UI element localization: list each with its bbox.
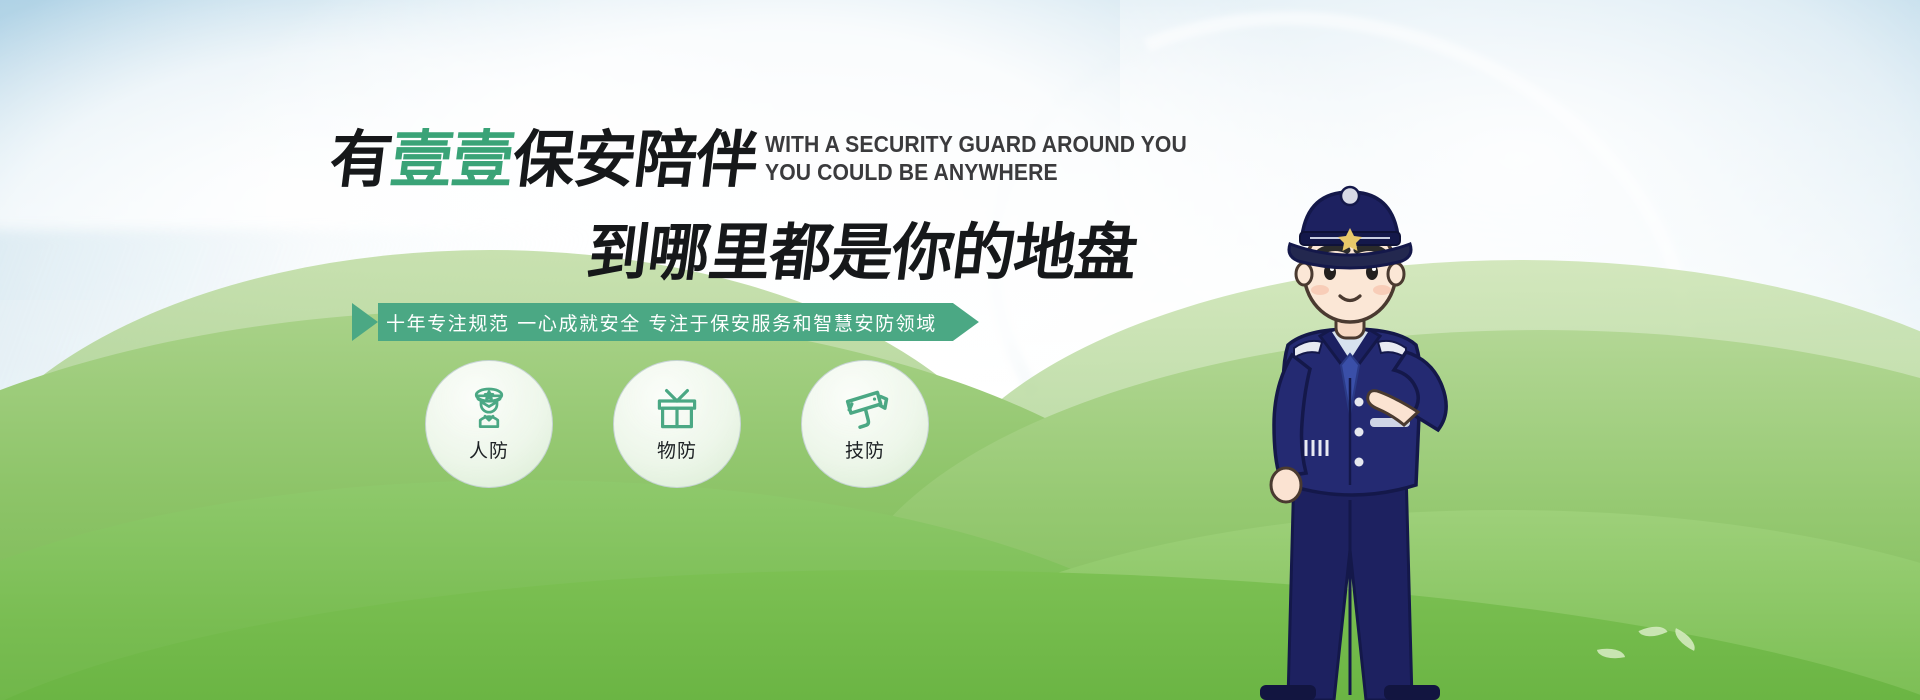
- tagline-text: 十年专注规范 一心成就安全 专注于保安服务和智慧安防领域: [386, 309, 937, 336]
- page-title: 有壹壹保安陪伴: [326, 128, 761, 192]
- security-marketing-banner: 有壹壹保安陪伴 WITH A SECURITY GUARD AROUND YOU…: [0, 0, 1920, 700]
- leaf-decoration: [1670, 628, 1699, 651]
- tagline-ribbon: 十年专注规范 一心成就安全 专注于保安服务和智慧安防领域: [352, 303, 979, 341]
- headline-suffix: 保安陪伴: [509, 123, 762, 196]
- security-guard-icon: [463, 386, 515, 432]
- headline-prefix: 有: [326, 123, 396, 196]
- feature-label: 物防: [657, 436, 697, 463]
- grass-horizon-glow: [0, 480, 1920, 570]
- leaf-decoration: [1597, 644, 1625, 662]
- headline-row: 有壹壹保安陪伴 WITH A SECURITY GUARD AROUND YOU…: [0, 128, 1160, 192]
- leaf-decoration: [1638, 620, 1667, 643]
- feature-list: 人防 物防: [425, 360, 929, 488]
- headline-accent-brand: 壹壹: [387, 123, 518, 196]
- english-subtitle-block: WITH A SECURITY GUARD AROUND YOU YOU COU…: [765, 130, 1224, 192]
- feature-item-renfang[interactable]: 人防: [425, 360, 553, 488]
- gift-box-icon: [651, 386, 703, 432]
- english-line-1: WITH A SECURITY GUARD AROUND YOU: [765, 130, 1187, 158]
- hill-foreground: [0, 570, 1920, 700]
- saluting-security-guard-illustration: [1202, 140, 1502, 700]
- headline-block: 有壹壹保安陪伴 WITH A SECURITY GUARD AROUND YOU…: [0, 128, 1160, 292]
- feature-item-jifang[interactable]: 技防: [801, 360, 929, 488]
- feature-label: 人防: [469, 436, 509, 463]
- ribbon-body: 十年专注规范 一心成就安全 专注于保安服务和智慧安防领域: [378, 303, 953, 341]
- feature-label: 技防: [845, 436, 885, 463]
- english-line-2: YOU COULD BE ANYWHERE: [765, 158, 1187, 186]
- cctv-camera-icon: [839, 386, 891, 432]
- ribbon-arrow-left-icon: [352, 303, 378, 341]
- page-subtitle: 到哪里都是你的地盘: [0, 202, 1166, 292]
- ribbon-arrow-right-icon: [953, 303, 979, 341]
- hill-near-left: [0, 480, 1250, 700]
- feature-item-wufang[interactable]: 物防: [613, 360, 741, 488]
